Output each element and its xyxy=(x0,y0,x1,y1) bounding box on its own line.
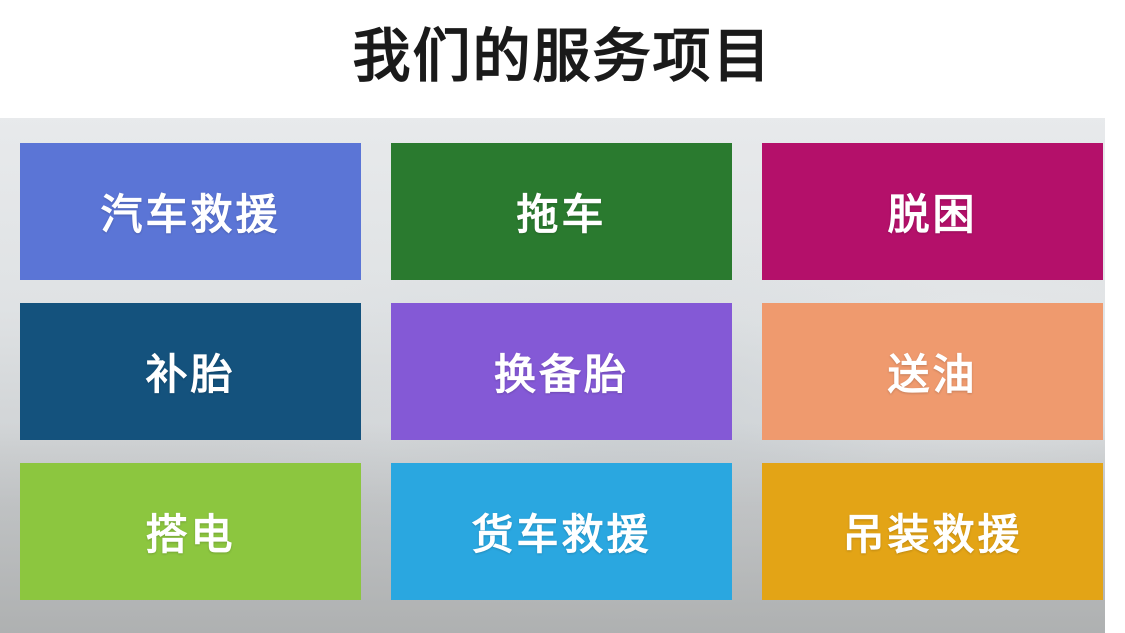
title-band: 我们的服务项目 xyxy=(0,0,1125,118)
service-tile-5[interactable]: 换备胎 xyxy=(391,303,732,440)
service-tile-label: 货车救援 xyxy=(471,501,651,562)
service-tile-label: 搭电 xyxy=(145,501,235,562)
service-tile-label: 拖车 xyxy=(516,181,606,242)
service-tile-3[interactable]: 脱困 xyxy=(762,143,1103,280)
service-poster: 我们的服务项目 汽车救援 拖车 脱困 补胎 换备胎 送油 搭电 货车救援 吊装救… xyxy=(0,0,1125,633)
service-tile-8[interactable]: 货车救援 xyxy=(391,463,732,600)
service-tile-label: 换备胎 xyxy=(494,341,629,402)
service-tile-label: 汽车救援 xyxy=(100,181,280,242)
service-tile-label: 吊装救援 xyxy=(842,501,1022,562)
right-white-margin xyxy=(1105,0,1125,633)
service-tile-1[interactable]: 汽车救援 xyxy=(20,143,361,280)
service-tile-label: 送油 xyxy=(887,341,977,402)
service-tile-label: 补胎 xyxy=(145,341,235,402)
service-tile-6[interactable]: 送油 xyxy=(762,303,1103,440)
service-tile-label: 脱困 xyxy=(887,181,977,242)
service-tile-2[interactable]: 拖车 xyxy=(391,143,732,280)
service-tile-4[interactable]: 补胎 xyxy=(20,303,361,440)
page-title: 我们的服务项目 xyxy=(0,22,1125,92)
service-grid: 汽车救援 拖车 脱困 补胎 换备胎 送油 搭电 货车救援 吊装救援 xyxy=(20,143,1105,600)
service-tile-7[interactable]: 搭电 xyxy=(20,463,361,600)
service-tile-9[interactable]: 吊装救援 xyxy=(762,463,1103,600)
